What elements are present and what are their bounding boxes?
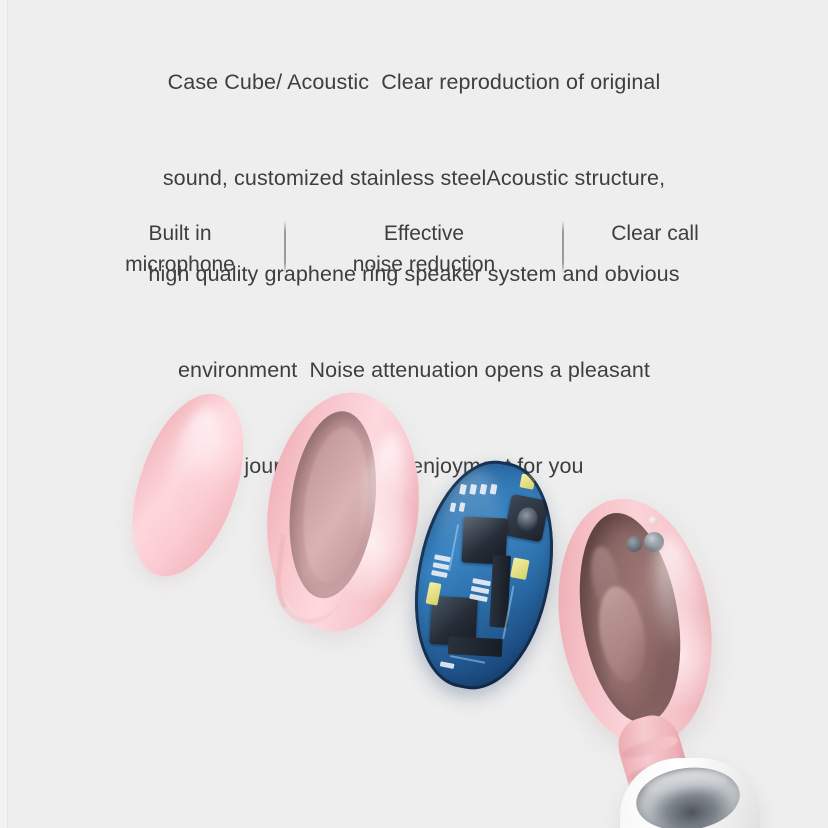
earbud-housing-component xyxy=(548,490,718,790)
earbud-contact-secondary xyxy=(626,536,642,552)
feature-1-line-2: microphone xyxy=(90,249,270,280)
feature-built-in-microphone: Built in microphone xyxy=(90,218,270,280)
feature-row: Built in microphone Effective noise redu… xyxy=(0,218,828,298)
feature-divider-1 xyxy=(284,220,286,274)
pink-ring-component xyxy=(254,384,432,640)
capsule-cap-highlight xyxy=(159,402,229,512)
feature-clear-call: Clear call xyxy=(580,218,730,249)
ear-tip-cavity xyxy=(633,762,744,828)
feature-2-line-2: noise reduction xyxy=(310,249,538,280)
feature-2-line-1: Effective xyxy=(310,218,538,249)
earbud-sensor-dot xyxy=(648,516,658,526)
product-feature-image: Case Cube/ Acoustic Clear reproduction o… xyxy=(0,0,828,828)
ear-tip-rim-highlight xyxy=(643,765,730,801)
pcb-edge-outline xyxy=(397,450,570,701)
feature-1-line-1: Built in xyxy=(90,218,270,249)
feature-divider-2 xyxy=(562,220,564,274)
feature-effective-noise-reduction: Effective noise reduction xyxy=(310,218,538,280)
headline-line-1: Case Cube/ Acoustic Clear reproduction o… xyxy=(60,66,768,98)
circuit-board-component xyxy=(397,450,570,701)
capsule-cap-component xyxy=(112,380,265,591)
exploded-product-illustration xyxy=(0,330,828,828)
feature-3-line-1: Clear call xyxy=(580,218,730,249)
headline-line-2: sound, customized stainless steelAcousti… xyxy=(60,162,768,194)
